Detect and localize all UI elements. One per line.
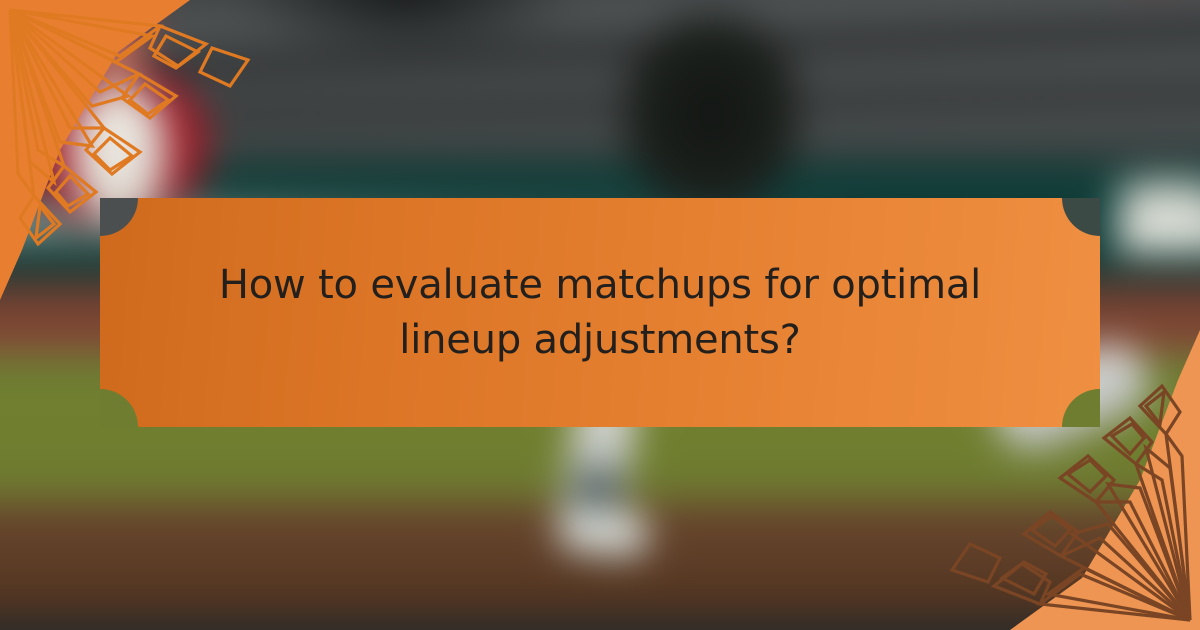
question-title: How to evaluate matchups for optimal lin… (170, 258, 1030, 368)
pitcher-torso (621, 13, 801, 214)
banner-notch-top-left (100, 198, 138, 236)
banner-notch-top-right (1062, 198, 1100, 236)
question-banner: How to evaluate matchups for optimal lin… (100, 198, 1100, 427)
banner-notch-bottom-right (1062, 389, 1100, 427)
banner-notch-bottom-left (100, 389, 138, 427)
social-card: How to evaluate matchups for optimal lin… (0, 0, 1200, 630)
